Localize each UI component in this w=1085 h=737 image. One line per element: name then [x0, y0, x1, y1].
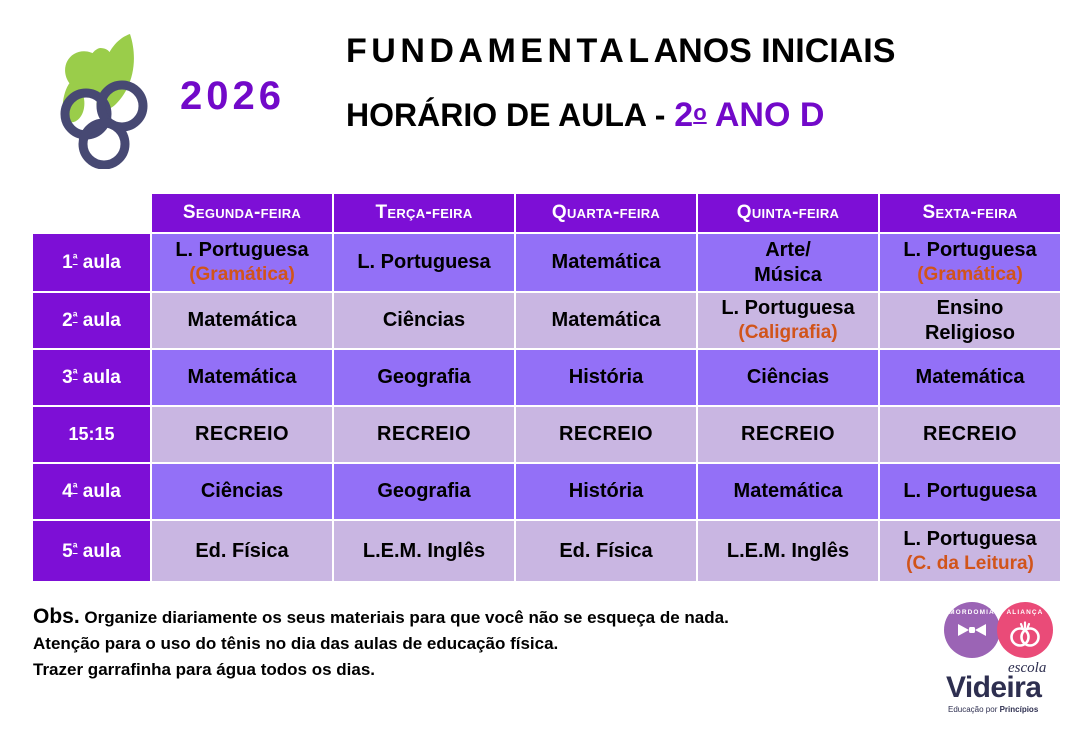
title-horario-prefix: HORÁRIO DE AULA -: [346, 97, 674, 133]
time-label-2: 2ª aula: [33, 293, 150, 348]
title-class-number: 2: [674, 96, 693, 134]
subject-name: RECREIO: [923, 423, 1017, 445]
schedule-cell: RECREIO: [152, 407, 332, 462]
table-row: 5ª aulaEd. FísicaL.E.M. InglêsEd. Física…: [33, 521, 1060, 581]
subject-name: Matemática: [188, 366, 297, 388]
schedule-cell: Matemática: [516, 234, 696, 291]
time-number: 3: [62, 367, 73, 388]
table-row: 2ª aulaMatemáticaCiênciasMatemáticaL. Po…: [33, 293, 1060, 348]
subject-name: Matemática: [552, 309, 661, 331]
subject-note: (Caligrafia): [698, 321, 878, 345]
subject-name: L. Portuguesa: [357, 251, 490, 273]
time-number: 2: [62, 310, 73, 331]
subject-name: Geografia: [377, 366, 470, 388]
subject-name: Matemática: [734, 480, 843, 502]
subject-name: Ensino Religioso: [925, 297, 1015, 344]
subject-name: Matemática: [188, 309, 297, 331]
title-anos-iniciais: ANOS INICIAIS: [654, 32, 896, 70]
table-row: 1ª aulaL. Portuguesa(Gramática)L. Portug…: [33, 234, 1060, 291]
subject-name: Ciências: [747, 366, 829, 388]
title-class-ordinal: o: [693, 100, 706, 125]
subject-name: L.E.M. Inglês: [727, 540, 849, 562]
subject-note: (C. da Leitura): [880, 552, 1060, 576]
subject-name: L. Portuguesa: [903, 528, 1036, 550]
title-block: FUNDAMENTALANOS INICIAIS HORÁRIO DE AULA…: [346, 28, 1046, 138]
time-number: 5: [62, 541, 73, 562]
schedule-cell: RECREIO: [516, 407, 696, 462]
footer-logos: MORDOMIA ALIANÇA escola Videira Educação…: [944, 602, 1070, 718]
schedule-table: Segunda-feira Terça-feira Quarta-feira Q…: [31, 192, 1062, 583]
title-fundamental: FUNDAMENTAL: [346, 32, 654, 70]
subject-name: Ed. Física: [559, 540, 652, 562]
schedule-cell: L. Portuguesa: [334, 234, 514, 291]
schedule-cell: História: [516, 350, 696, 405]
table-row: 3ª aulaMatemáticaGeografiaHistóriaCiênci…: [33, 350, 1060, 405]
time-suffix: aula: [78, 367, 121, 388]
schedule-cell: RECREIO: [334, 407, 514, 462]
time-suffix: aula: [78, 481, 121, 502]
time-suffix: aula: [78, 541, 121, 562]
subject-name: Matemática: [916, 366, 1025, 388]
schedule-cell: Ciências: [698, 350, 878, 405]
schedule-cell: Ciências: [334, 293, 514, 348]
table-row: 15:15RECREIORECREIORECREIORECREIORECREIO: [33, 407, 1060, 462]
time-label-1: 1ª aula: [33, 234, 150, 291]
schedule-cell: Arte/ Música: [698, 234, 878, 291]
day-header-friday: Sexta-feira: [880, 194, 1060, 232]
brand-tagline-prefix: Educação por: [948, 705, 1000, 714]
subject-name: L. Portuguesa: [721, 297, 854, 319]
schedule-cell: Ensino Religioso: [880, 293, 1060, 348]
table-row: 4ª aulaCiênciasGeografiaHistóriaMatemáti…: [33, 464, 1060, 519]
day-header-tuesday: Terça-feira: [334, 194, 514, 232]
schedule-cell: RECREIO: [880, 407, 1060, 462]
table-header-row: Segunda-feira Terça-feira Quarta-feira Q…: [33, 194, 1060, 232]
time-number: 4: [62, 481, 73, 502]
schedule-cell: L. Portuguesa(Gramática): [152, 234, 332, 291]
schedule-cell: Matemática: [880, 350, 1060, 405]
schedule-cell: História: [516, 464, 696, 519]
badge-mordomia: MORDOMIA: [944, 602, 1000, 658]
time-label-3: 3ª aula: [33, 350, 150, 405]
subject-name: Ciências: [201, 480, 283, 502]
subject-name: L. Portuguesa: [903, 239, 1036, 261]
day-header-wednesday: Quarta-feira: [516, 194, 696, 232]
schedule-cell: Geografia: [334, 350, 514, 405]
subject-name: Ciências: [383, 309, 465, 331]
observation-lead: Obs.: [33, 605, 80, 628]
time-label-5: 4ª aula: [33, 464, 150, 519]
brand-name: Videira: [946, 671, 1041, 705]
observation-line-2: Atenção para o uso do tênis no dia das a…: [33, 631, 733, 657]
subject-name: Geografia: [377, 480, 470, 502]
day-header-monday: Segunda-feira: [152, 194, 332, 232]
subject-name: L. Portuguesa: [175, 239, 308, 261]
grape-vine-logo: [42, 24, 162, 169]
schedule-cell: Matemática: [152, 350, 332, 405]
schedule-cell: Ed. Física: [152, 521, 332, 581]
badge-alianca: ALIANÇA: [997, 602, 1053, 658]
page-title-line-2: HORÁRIO DE AULA - 2o ANO D: [346, 90, 1046, 138]
observation-line-3: Trazer garrafinha para água todos os dia…: [33, 657, 733, 683]
subject-name: Ed. Física: [195, 540, 288, 562]
subject-name: RECREIO: [741, 423, 835, 445]
page-title-line-1: FUNDAMENTALANOS INICIAIS: [346, 28, 1046, 74]
subject-name: Matemática: [552, 251, 661, 273]
subject-name: L.E.M. Inglês: [363, 540, 485, 562]
table-corner-blank: [33, 194, 150, 232]
observation-line-1: Obs. Organize diariamente os seus materi…: [33, 604, 733, 631]
page-header: 2026 FUNDAMENTALANOS INICIAIS HORÁRIO DE…: [0, 0, 1085, 185]
schedule-cell: Ciências: [152, 464, 332, 519]
schedule-cell: L. Portuguesa(Caligrafia): [698, 293, 878, 348]
title-class-name: ANO D: [707, 96, 825, 134]
observation-line-1-text: Organize diariamente os seus materiais p…: [80, 608, 729, 627]
subject-name: RECREIO: [377, 423, 471, 445]
time-suffix: aula: [78, 310, 121, 331]
schedule-body: 1ª aulaL. Portuguesa(Gramática)L. Portug…: [33, 234, 1060, 581]
brand-tagline-bold: Princípios: [1000, 705, 1039, 714]
schedule-cell: RECREIO: [698, 407, 878, 462]
time-suffix: aula: [78, 252, 121, 273]
year-label: 2026: [180, 74, 285, 119]
schedule-cell: Matemática: [152, 293, 332, 348]
subject-note: (Gramática): [152, 263, 332, 287]
brand-tagline: Educação por Princípios: [948, 705, 1038, 714]
subject-name: RECREIO: [195, 423, 289, 445]
schedule-cell: Matemática: [698, 464, 878, 519]
schedule-cell: L.E.M. Inglês: [334, 521, 514, 581]
time-label-4: 15:15: [33, 407, 150, 462]
time-label-6: 5ª aula: [33, 521, 150, 581]
schedule-cell: L.E.M. Inglês: [698, 521, 878, 581]
time-number: 1: [62, 252, 73, 273]
subject-name: RECREIO: [559, 423, 653, 445]
subject-name: História: [569, 480, 643, 502]
observations-block: Obs. Organize diariamente os seus materi…: [33, 604, 733, 683]
day-header-thursday: Quinta-feira: [698, 194, 878, 232]
subject-note: (Gramática): [880, 263, 1060, 287]
subject-name: Arte/ Música: [754, 239, 822, 286]
schedule-cell: Ed. Física: [516, 521, 696, 581]
subject-name: História: [569, 366, 643, 388]
schedule-cell: Matemática: [516, 293, 696, 348]
schedule-cell: L. Portuguesa(C. da Leitura): [880, 521, 1060, 581]
wedding-rings-icon: [997, 602, 1053, 658]
schedule-cell: L. Portuguesa(Gramática): [880, 234, 1060, 291]
bowtie-icon: [944, 602, 1000, 658]
schedule-cell: Geografia: [334, 464, 514, 519]
schedule-cell: L. Portuguesa: [880, 464, 1060, 519]
subject-name: L. Portuguesa: [903, 480, 1036, 502]
